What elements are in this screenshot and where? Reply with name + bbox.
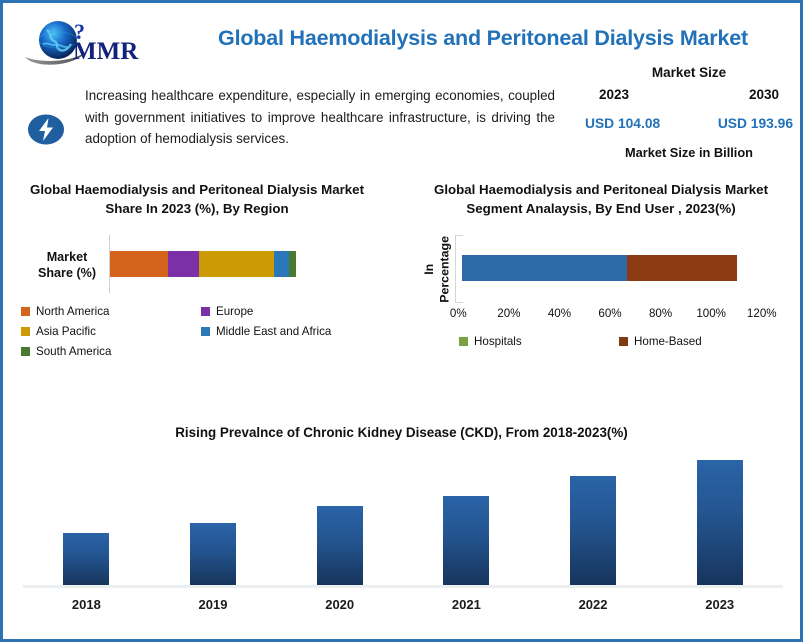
ckd-chart-plot — [23, 460, 783, 588]
legend-item: North America — [21, 305, 201, 318]
ckd-category-label: 2018 — [23, 597, 150, 612]
ckd-category-label: 2019 — [150, 597, 277, 612]
x-tick-label: 40% — [534, 307, 585, 320]
ckd-category-labels: 201820192020202120222023 — [23, 597, 783, 612]
legend-label: Home-Based — [634, 335, 702, 348]
ckd-bar — [317, 506, 363, 585]
legend-swatch-icon — [201, 327, 210, 336]
legend-item: Europe — [201, 305, 381, 318]
ckd-bar — [63, 533, 109, 586]
end-user-chart: Global Haemodialysis and Peritoneal Dial… — [411, 181, 799, 348]
region-share-chart: Global Haemodialysis and Peritoneal Dial… — [21, 181, 391, 365]
ckd-baseline — [23, 585, 783, 588]
end-user-x-ticks: 0%20%40%60%80%100%120% — [433, 307, 787, 320]
region-segment — [110, 251, 168, 277]
legend-label: Asia Pacific — [36, 325, 96, 338]
end-user-axis-label-text: In Percentage — [422, 236, 453, 303]
region-segment — [199, 251, 273, 277]
mmr-globe-logo: ? MMR — [21, 17, 181, 69]
end-user-stacked-bar — [462, 255, 737, 281]
legend-label: Middle East and Africa — [216, 325, 331, 338]
infographic-page: ? MMR Global Haemodialysis and Peritonea… — [0, 0, 803, 642]
legend-swatch-icon — [21, 307, 30, 316]
region-axis-label: Market Share (%) — [33, 249, 101, 282]
legend-item: Asia Pacific — [21, 325, 201, 338]
legend-label: Hospitals — [474, 335, 522, 348]
region-legend: North AmericaEuropeAsia PacificMiddle Ea… — [21, 305, 381, 365]
end-user-segment — [627, 255, 737, 281]
ckd-bar — [190, 523, 236, 586]
legend-label: Europe — [216, 305, 253, 318]
region-segment — [168, 251, 200, 277]
ckd-bar — [697, 460, 743, 585]
ckd-category-label: 2020 — [276, 597, 403, 612]
ckd-chart-title: Rising Prevalnce of Chronic Kidney Disea… — [3, 423, 800, 442]
market-size-unit: Market Size in Billion — [583, 145, 795, 160]
region-stacked-bar — [110, 251, 296, 277]
ckd-bar-column — [276, 460, 403, 585]
market-size-years: 2023 2030 — [583, 87, 795, 102]
ckd-bar-column — [150, 460, 277, 585]
region-segment — [289, 251, 296, 277]
legend-item: South America — [21, 345, 201, 358]
end-user-legend: HospitalsHome-Based — [411, 335, 803, 348]
ckd-category-label: 2022 — [530, 597, 657, 612]
x-tick-label: 60% — [585, 307, 636, 320]
market-size-year-base: 2023 — [599, 87, 629, 102]
legend-swatch-icon — [619, 337, 628, 346]
legend-label: North America — [36, 305, 109, 318]
ckd-bar-column — [656, 460, 783, 585]
legend-item: Hospitals — [459, 335, 619, 348]
x-tick-label: 20% — [484, 307, 535, 320]
end-user-chart-plot: In Percentage 0%20%40%60%80%100%120% — [411, 233, 791, 305]
market-size-value-forecast: USD 193.96 — [718, 116, 793, 131]
ckd-category-label: 2021 — [403, 597, 530, 612]
market-size-block: Market Size 2023 2030 USD 104.08 USD 193… — [583, 65, 795, 160]
ckd-bar-group — [23, 460, 783, 585]
x-tick-label: 120% — [736, 307, 787, 320]
region-chart-title: Global Haemodialysis and Peritoneal Dial… — [21, 181, 373, 219]
ckd-bar — [570, 476, 616, 585]
x-tick-label: 80% — [635, 307, 686, 320]
market-size-year-forecast: 2030 — [749, 87, 779, 102]
legend-swatch-icon — [459, 337, 468, 346]
end-user-segment — [462, 255, 627, 281]
legend-label: South America — [36, 345, 111, 358]
x-tick-label: 100% — [686, 307, 737, 320]
intro-paragraph: Increasing healthcare expenditure, espec… — [85, 85, 555, 150]
ckd-bar-column — [530, 460, 657, 585]
legend-swatch-icon — [21, 347, 30, 356]
market-size-value-base: USD 104.08 — [585, 116, 660, 131]
ckd-bar-column — [403, 460, 530, 585]
end-user-chart-title: Global Haemodialysis and Peritoneal Dial… — [411, 181, 791, 219]
lightning-bolt-icon — [27, 113, 65, 146]
legend-swatch-icon — [201, 307, 210, 316]
ckd-category-label: 2023 — [656, 597, 783, 612]
ckd-prevalence-chart: Rising Prevalnce of Chronic Kidney Disea… — [3, 423, 800, 612]
page-title: Global Haemodialysis and Peritoneal Dial… — [183, 27, 783, 51]
region-segment — [274, 251, 289, 277]
x-tick-label: 0% — [433, 307, 484, 320]
legend-item: Home-Based — [619, 335, 779, 348]
legend-item: Middle East and Africa — [201, 325, 381, 338]
market-size-values: USD 104.08 USD 193.96 — [583, 116, 795, 131]
region-chart-plot: Market Share (%) — [21, 235, 373, 297]
ckd-bar-column — [23, 460, 150, 585]
logo-wordmark: MMR — [73, 38, 139, 65]
legend-swatch-icon — [21, 327, 30, 336]
header: ? MMR Global Haemodialysis and Peritonea… — [3, 3, 800, 71]
market-size-caption: Market Size — [583, 65, 795, 80]
ckd-bar — [443, 496, 489, 585]
